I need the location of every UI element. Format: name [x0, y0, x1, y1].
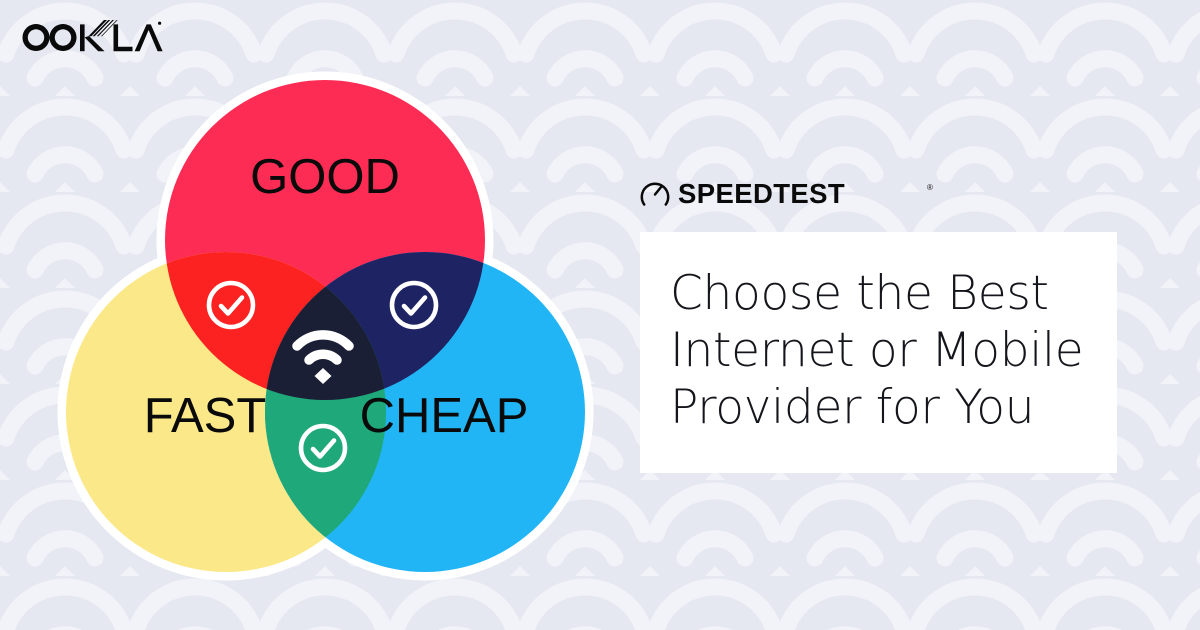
page-title: Choose the Best Internet or Mobile Provi… [670, 266, 1087, 437]
venn-diagram: GOOD FAST CHEAP [40, 60, 620, 590]
speedtest-logo[interactable]: SPEEDTEST ® [640, 176, 940, 210]
speedtest-wordmark: SPEEDTEST [678, 178, 845, 209]
speedtest-trademark: ® [927, 183, 933, 192]
headline-panel: Choose the Best Internet or Mobile Provi… [640, 232, 1117, 473]
venn-label-cheap: CHEAP [360, 389, 529, 443]
ookla-logo[interactable] [14, 10, 164, 62]
poster-canvas: GOOD FAST CHEAP [0, 0, 1200, 630]
venn-label-fast: FAST [144, 389, 267, 443]
venn-label-good: GOOD [250, 150, 400, 204]
right-content-column: SPEEDTEST ® Choose the Best Internet or … [640, 176, 1140, 473]
speedometer-icon [642, 184, 668, 205]
